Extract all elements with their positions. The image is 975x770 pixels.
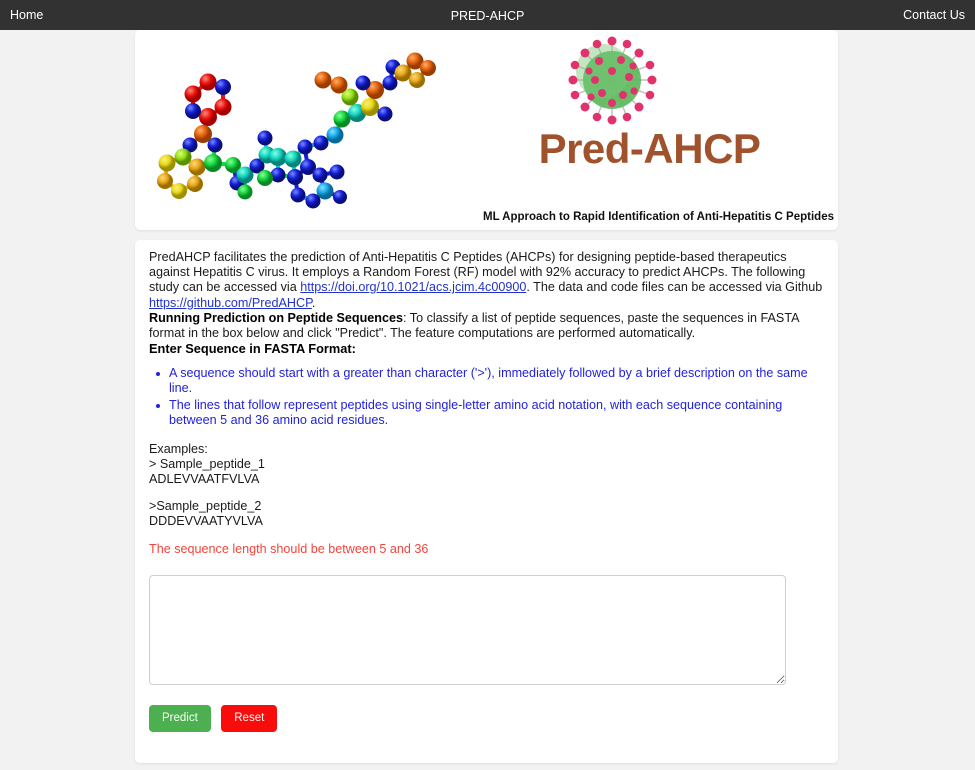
list-item: A sequence should start with a greater t… [169, 366, 824, 396]
example-block-1: > Sample_peptide_1 ADLEVVAATFVLVA [149, 457, 824, 486]
action-button-row: Predict Reset [149, 705, 824, 732]
intro-text-part3: . [312, 296, 316, 310]
intro-paragraph: PredAHCP facilitates the prediction of A… [149, 250, 824, 311]
brand-block: Pred-AHCP ML Approach to Rapid Identific… [465, 30, 838, 230]
doi-link[interactable]: https://doi.org/10.1021/acs.jcim.4c00900 [300, 280, 526, 294]
top-navbar: Home PRED-AHCP Contact Us [0, 0, 975, 30]
sequence-length-warning: The sequence length should be between 5 … [149, 542, 824, 557]
intro-text-part2: . The data and code files can be accesse… [526, 280, 822, 294]
fasta-format-heading: Enter Sequence in FASTA Format: [149, 341, 824, 356]
example-block-2: >Sample_peptide_2 DDDEVVAATYVLVA [149, 499, 824, 528]
reset-button[interactable]: Reset [221, 705, 277, 732]
peptide-molecule-icon [145, 35, 445, 225]
example-header: > Sample_peptide_1 [149, 457, 824, 472]
list-item: The lines that follow represent peptides… [169, 398, 824, 428]
example-sequence: ADLEVVAATFVLVA [149, 472, 824, 487]
github-link[interactable]: https://github.com/PredAHCP [149, 296, 312, 310]
examples-label: Examples: [149, 442, 824, 457]
running-prediction-paragraph: Running Prediction on Peptide Sequences:… [149, 311, 824, 341]
sequence-input-textarea[interactable] [149, 575, 786, 685]
predict-button[interactable]: Predict [149, 705, 211, 732]
app-title: PRED-AHCP [0, 9, 975, 23]
main-content-card: PredAHCP facilitates the prediction of A… [135, 240, 838, 763]
fasta-rules-list: A sequence should start with a greater t… [149, 366, 824, 428]
running-prediction-label: Running Prediction on Peptide Sequences [149, 311, 403, 325]
nav-link-contact-us[interactable]: Contact Us [903, 8, 965, 22]
header-banner-card: Pred-AHCP ML Approach to Rapid Identific… [135, 30, 838, 230]
brand-subtitle: ML Approach to Rapid Identification of A… [465, 210, 834, 224]
example-header: >Sample_peptide_2 [149, 499, 824, 514]
hepatitis-c-virus-icon [555, 35, 670, 125]
example-sequence: DDDEVVAATYVLVA [149, 514, 824, 529]
banner: Pred-AHCP ML Approach to Rapid Identific… [135, 30, 838, 230]
brand-title: Pred-AHCP [465, 127, 834, 171]
